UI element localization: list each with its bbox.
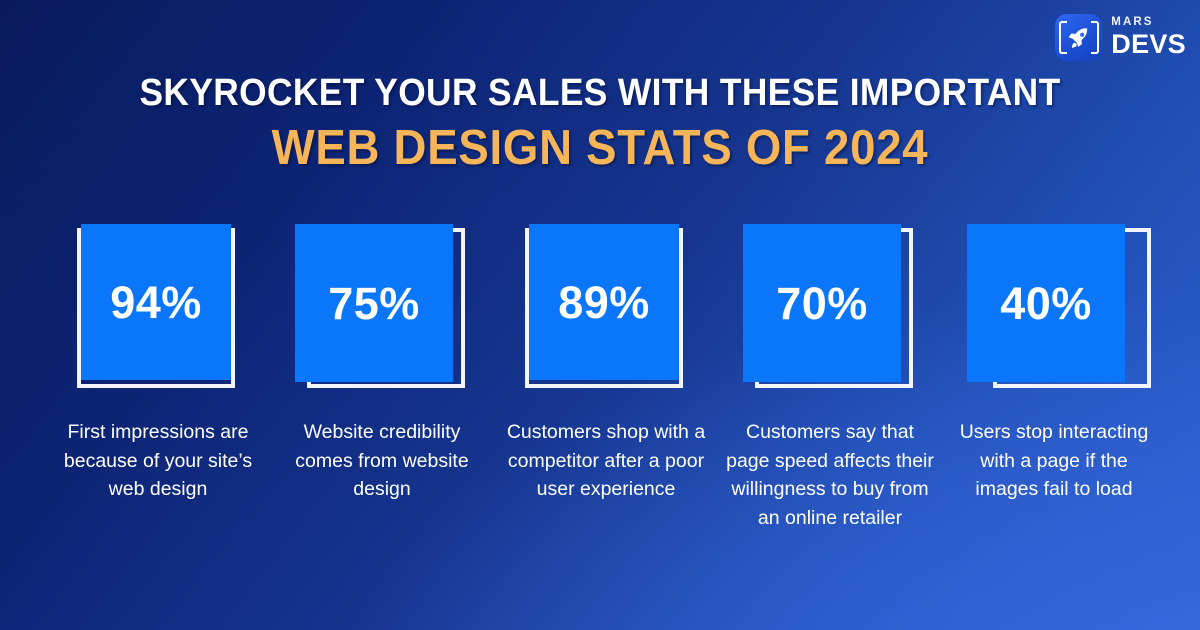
brand-name-top: MARS — [1111, 17, 1186, 29]
brand-name-bottom: DEVS — [1111, 31, 1186, 58]
stat-card: 70% — [743, 224, 917, 396]
title-line-1: SKYROCKET YOUR SALES WITH THESE IMPORTAN… — [42, 74, 1158, 114]
card-fill: 40% — [967, 224, 1125, 382]
card-fill: 89% — [529, 224, 679, 380]
stat-item: 89% Customers shop with a competitor aft… — [494, 224, 718, 504]
stat-item: 94% First impressions are because of you… — [46, 224, 270, 504]
brand-wordmark: MARS DEVS — [1111, 17, 1186, 58]
stat-value: 89% — [558, 280, 650, 325]
stat-caption: First impressions are because of your si… — [46, 418, 270, 504]
card-fill: 94% — [81, 224, 231, 380]
stat-caption: Customers say that page speed affects th… — [718, 418, 942, 533]
stat-caption: Website credibility comes from website d… — [270, 418, 494, 504]
stat-item: 75% Website credibility comes from websi… — [270, 224, 494, 504]
stat-card: 40% — [967, 224, 1141, 396]
card-fill: 70% — [743, 224, 901, 382]
stat-caption: Users stop interacting with a page if th… — [942, 418, 1166, 504]
stat-item: 70% Customers say that page speed affect… — [718, 224, 942, 533]
stats-row: 94% First impressions are because of you… — [46, 224, 1154, 533]
stat-value: 75% — [328, 281, 420, 326]
stat-card: 89% — [519, 224, 693, 396]
page-title: SKYROCKET YOUR SALES WITH THESE IMPORTAN… — [0, 74, 1200, 173]
brand-logo: MARS DEVS — [1055, 14, 1186, 61]
title-line-2: WEB DESIGN STATS OF 2024 — [42, 123, 1158, 174]
stat-value: 40% — [1000, 281, 1092, 326]
stat-value: 94% — [110, 280, 202, 325]
stat-value: 70% — [776, 281, 868, 326]
stat-item: 40% Users stop interacting with a page i… — [942, 224, 1166, 504]
stat-card: 94% — [71, 224, 245, 396]
rocket-icon — [1055, 14, 1102, 61]
stat-caption: Customers shop with a competitor after a… — [494, 418, 718, 504]
stat-card: 75% — [295, 224, 469, 396]
infographic-poster: MARS DEVS SKYROCKET YOUR SALES WITH THES… — [0, 0, 1200, 630]
card-fill: 75% — [295, 224, 453, 382]
